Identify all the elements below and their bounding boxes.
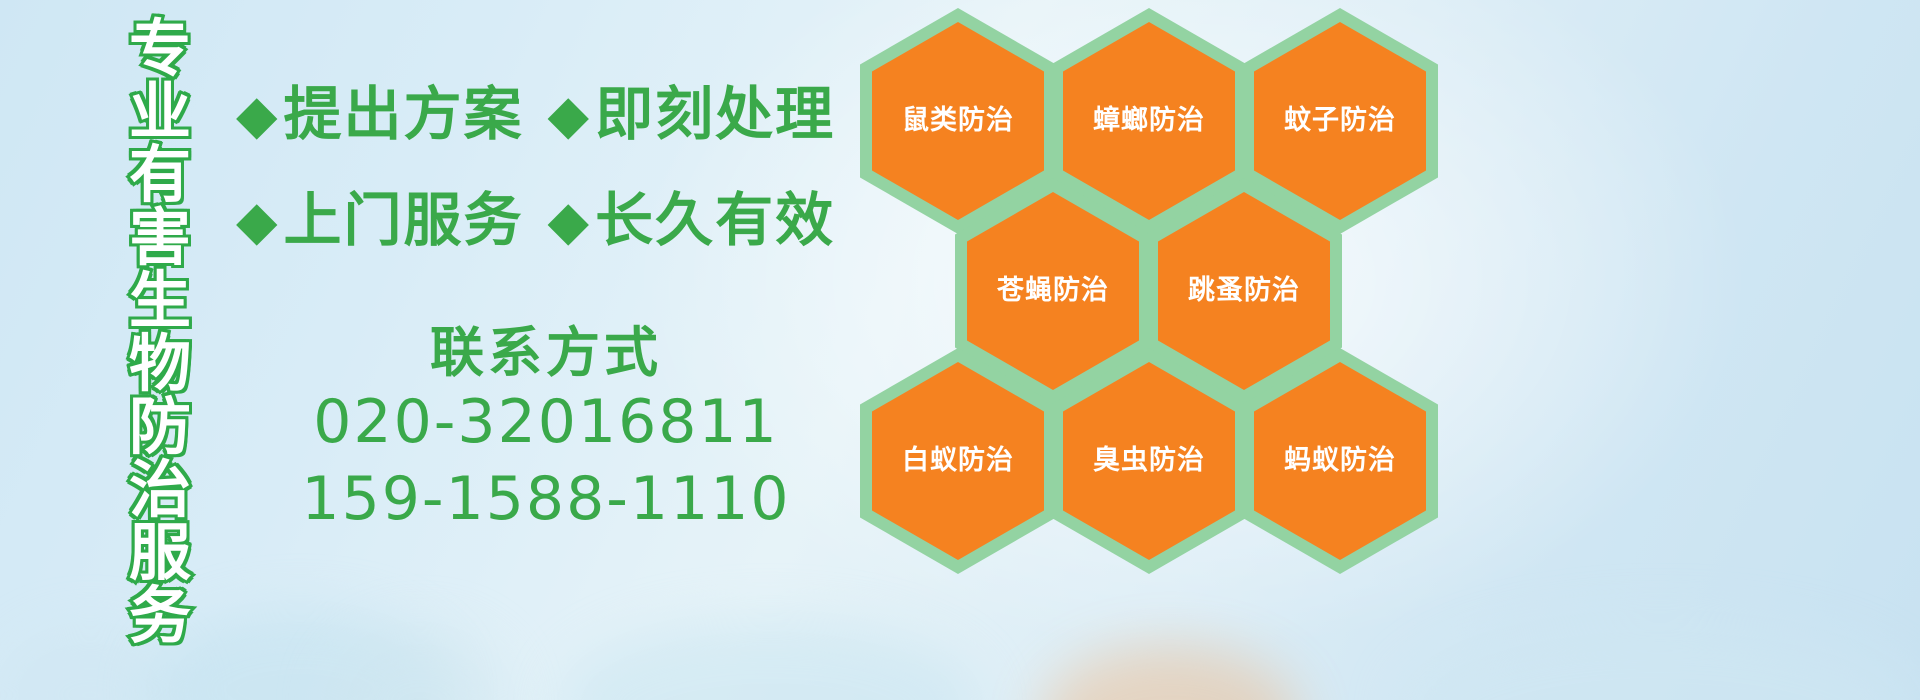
service-label: 苍蝇防治: [997, 276, 1109, 306]
vertical-title-char: 防: [129, 396, 191, 459]
phone-number-landline[interactable]: 020-32016811: [236, 384, 856, 461]
vertical-title-char: 专: [129, 18, 191, 81]
contact-title: 联系方式: [236, 322, 856, 384]
contact-block: 联系方式 020-32016811 159-1588-1110: [236, 322, 856, 538]
hex-inner: 鼠类防治: [872, 22, 1044, 220]
diamond-bullet-icon: ◆: [236, 194, 278, 248]
hex-inner: 臭虫防治: [1063, 362, 1235, 560]
diamond-bullet-icon: ◆: [236, 88, 278, 142]
hex-inner: 蟑螂防治: [1063, 22, 1235, 220]
service-label: 蟑螂防治: [1093, 106, 1205, 136]
hex-inner: 蚊子防治: [1254, 22, 1426, 220]
phone-number-mobile[interactable]: 159-1588-1110: [236, 461, 856, 538]
service-label: 白蚁防治: [902, 446, 1014, 476]
diamond-bullet-icon: ◆: [548, 88, 590, 142]
vertical-title-char: 害: [129, 207, 191, 270]
hex-inner: 苍蝇防治: [967, 192, 1139, 390]
slogan-text: 即刻处理: [595, 86, 835, 144]
hex-inner: 跳蚤防治: [1158, 192, 1330, 390]
vertical-title-char: 治: [129, 459, 191, 522]
background-blur-shape: [1040, 645, 1300, 700]
promotional-banner: 专 业 有 害 生 物 防 治 服 务 ◆ 提出方案 ◆ 即刻处理 ◆ 上门服务…: [0, 0, 1920, 700]
service-hex-grid: 鼠类防治 蟑螂防治 蚊子防治 苍蝇防治 跳蚤防治 白蚁防: [856, 0, 1456, 560]
vertical-title-char: 有: [129, 144, 191, 207]
vertical-title-char: 业: [129, 81, 191, 144]
slogan-text: 上门服务: [284, 192, 524, 250]
service-label: 臭虫防治: [1093, 446, 1205, 476]
hex-inner: 白蚁防治: [872, 362, 1044, 560]
background-blur-shape: [560, 620, 980, 700]
vertical-title: 专 业 有 害 生 物 防 治 服 务: [104, 18, 216, 578]
vertical-title-char: 服: [129, 522, 191, 585]
slogan-row-1: ◆ 提出方案 ◆ 即刻处理: [236, 86, 835, 144]
service-label: 蚂蚁防治: [1284, 446, 1396, 476]
diamond-bullet-icon: ◆: [548, 194, 590, 248]
service-label: 蚊子防治: [1284, 106, 1396, 136]
service-label: 跳蚤防治: [1188, 276, 1300, 306]
service-label: 鼠类防治: [902, 106, 1014, 136]
background-blur-shape: [1400, 620, 1920, 700]
vertical-title-char: 务: [129, 585, 191, 648]
vertical-title-char: 物: [129, 333, 191, 396]
vertical-title-char: 生: [129, 270, 191, 333]
slogan-text: 提出方案: [284, 86, 524, 144]
slogan-row-2: ◆ 上门服务 ◆ 长久有效: [236, 192, 835, 250]
slogan-text: 长久有效: [595, 192, 835, 250]
hex-inner: 蚂蚁防治: [1254, 362, 1426, 560]
